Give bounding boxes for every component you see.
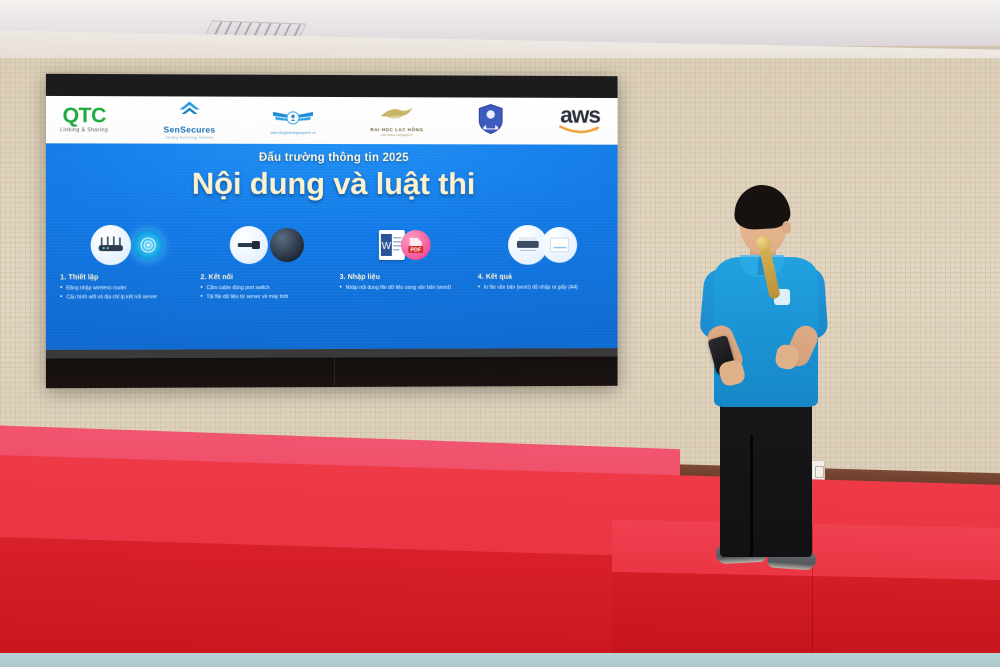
wings-shield-icon [271,106,315,130]
slide-title: Nội dung và luật thi [46,165,618,202]
step-4-heading: 4. Kết quả [478,274,608,281]
step-2-icons [200,216,332,274]
sensecures-logo-tagline: Sensing Technology Solutions [165,136,213,140]
step-1-heading: 1. Thiết lập [60,274,193,281]
step-1-bullet: Đăng nhập wireless router [60,284,193,293]
screen-base-panel [46,348,618,388]
qtc-logo-tagline: Linking & Sharing [60,129,108,134]
aws-smile-arrow-icon [558,123,601,139]
aws-logo: aws [558,103,601,139]
slide-step-4: 4. Kết quả In file văn bản (word) đã nhậ… [478,216,608,342]
speaker-figure [690,185,880,585]
floor-strip [0,653,1000,667]
step-4-icons [478,216,608,274]
step-1-bullet: Cấu hình wifi và địa chỉ ip kết nối serv… [60,293,193,302]
sensecures-logo-text: SenSecures [163,125,215,135]
svg-text:PDF: PDF [411,248,422,254]
bird-icon [377,104,417,126]
slide-step-2: 2. Kết nối Cắm cable đúng port switch Tả… [200,216,332,343]
lac-hong-university-logo-tagline: LAC HONG UNIVERSITY [381,134,413,137]
slide-content: Đấu trường thông tin 2025 Nội dung và lu… [46,143,618,350]
network-signal-icon [133,230,163,260]
trousers [720,397,812,557]
shield-badge-logo [478,104,505,139]
qtc-logo-text: QTC [63,105,106,126]
svg-text:W: W [382,241,392,252]
lac-hong-university-logo: ĐẠI HỌC LẠC HỒNG LAC HONG UNIVERSITY [370,104,423,136]
step-1-icons [60,216,193,274]
network-cable-icon [229,226,267,264]
trouser-seam [750,435,753,557]
led-presentation-screen: QTC Linking & Sharing SenSecures Sensing… [46,74,618,388]
pdf-file-icon: PDF [401,230,431,260]
shield-icon [478,104,505,139]
slide-kicker: Đấu trường thông tin 2025 [46,151,618,164]
screen-top-bezel [46,74,618,98]
step-3-heading: 3. Nhập liệu [340,274,471,281]
ear [782,221,791,234]
slide-steps: 1. Thiết lập Đăng nhập wireless router C… [60,216,608,344]
chevron-up-icon [178,100,200,123]
paper-sheet-icon [542,227,578,263]
step-2-heading: 2. Kết nối [200,274,332,281]
step-4-bullet: In file văn bản (word) đã nhập ra giấy (… [478,284,608,293]
slide-step-1: 1. Thiết lập Đăng nhập wireless router C… [60,216,193,344]
sensecures-logo: SenSecures Sensing Technology Solutions [163,100,215,139]
step-2-bullet: Cắm cable đúng port switch [200,284,332,293]
presentation-scene: QTC Linking & Sharing SenSecures Sensing… [0,0,1000,667]
step-2-bullet: Tải file dữ liệu từ server về máy tính [200,293,332,302]
step-3-bullet: Nhập nội dung file dữ liệu sang văn bản … [340,284,471,293]
wings-logo: www.thegioimangmaytinh.vn [270,106,315,135]
wings-logo-tagline: www.thegioimangmaytinh.vn [270,132,315,135]
step-3-icons: W [340,216,471,274]
qtc-logo: QTC Linking & Sharing [60,105,108,134]
slide-step-3: W [340,216,471,343]
wireless-router-icon [90,225,130,265]
sponsor-logo-strip: QTC Linking & Sharing SenSecures Sensing… [46,96,618,145]
switch-device-icon [270,228,304,262]
